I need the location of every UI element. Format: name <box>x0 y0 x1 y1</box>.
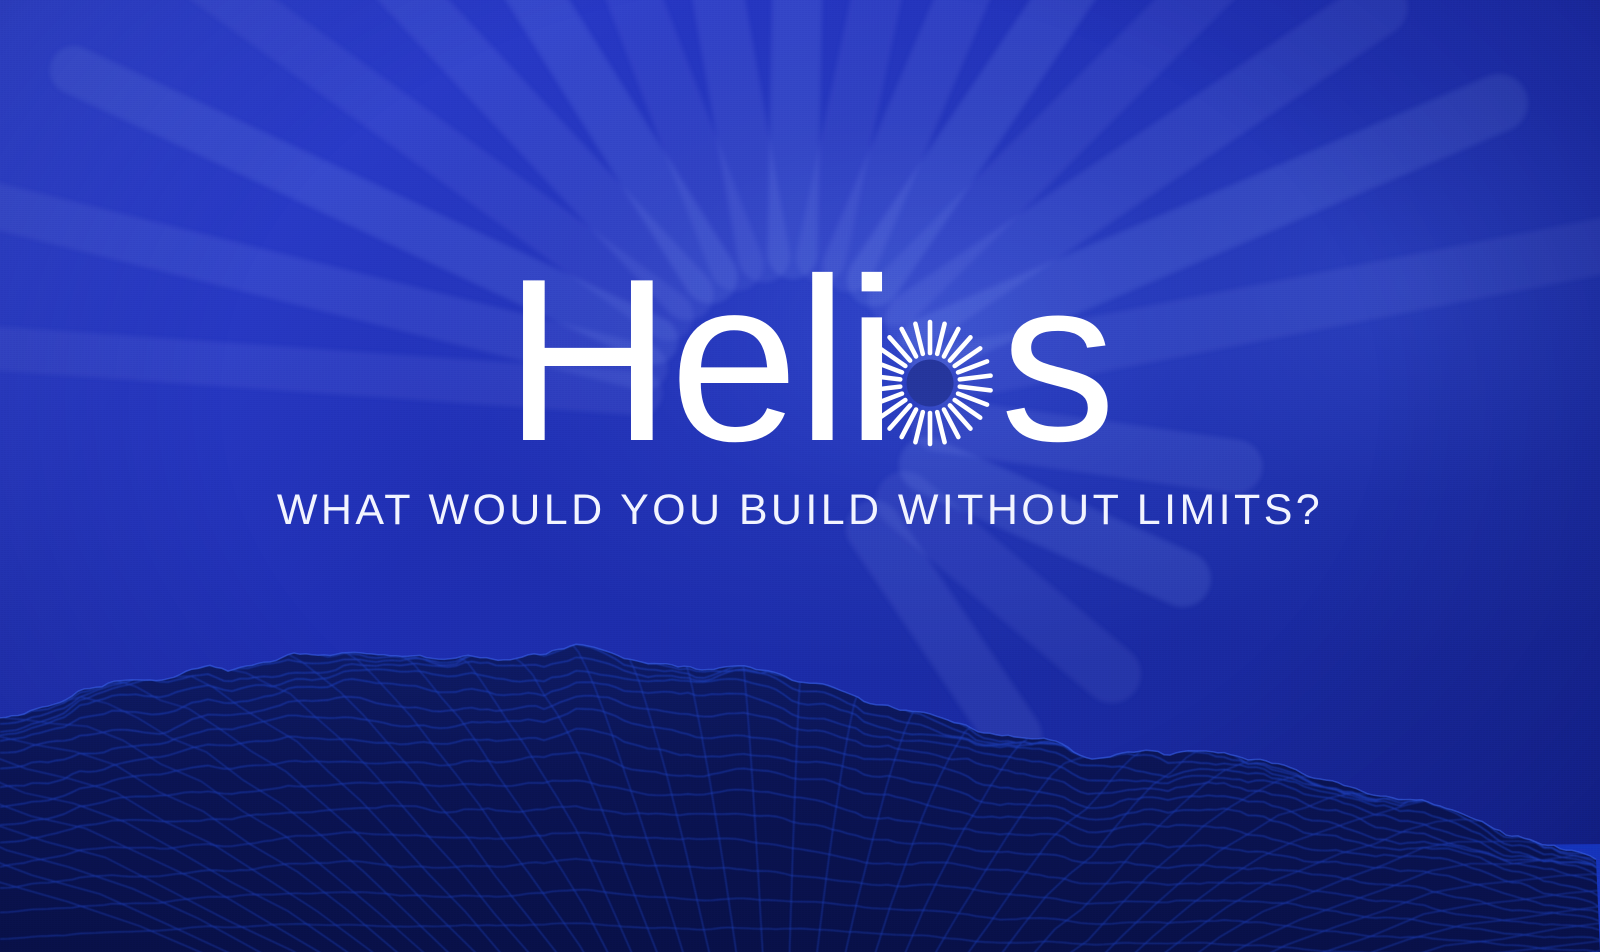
film-grain-overlay <box>0 0 1600 952</box>
hero-canvas: Heli s WHAT WOULD YOU BUILD WITHOUT LIMI… <box>0 0 1600 952</box>
